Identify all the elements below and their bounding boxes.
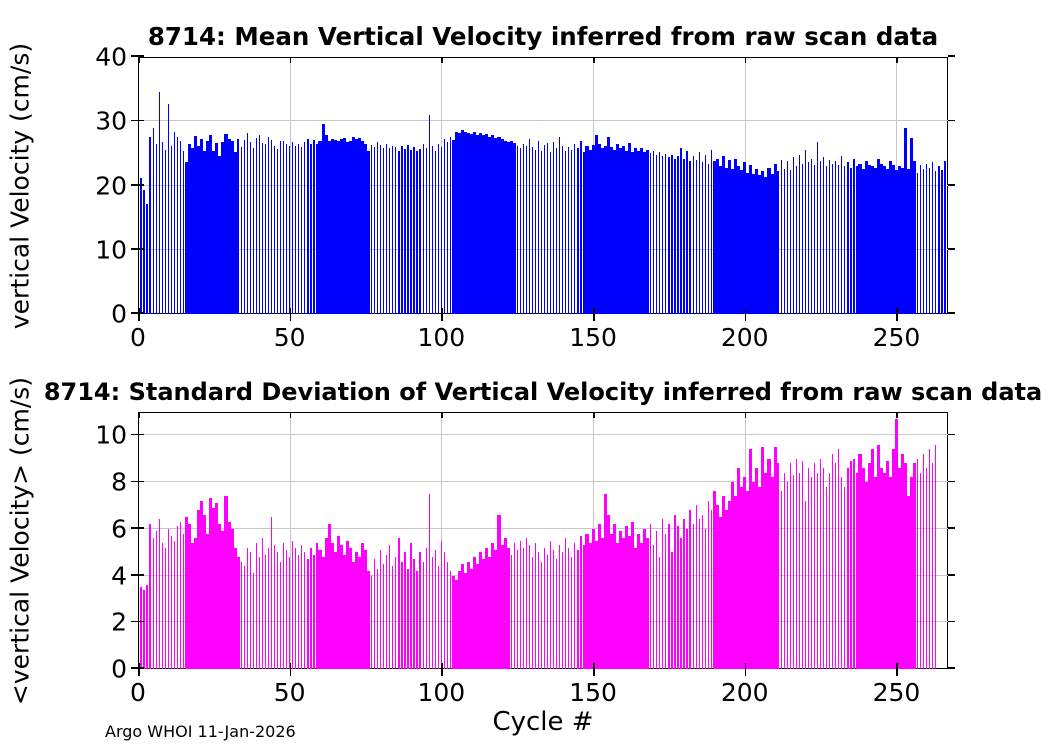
bar	[674, 515, 675, 669]
bar	[247, 133, 248, 314]
x-tick	[745, 669, 747, 676]
bar	[847, 468, 848, 669]
bar	[162, 142, 163, 314]
bar	[547, 555, 548, 669]
bar	[793, 475, 794, 669]
y-tick-right	[948, 184, 955, 186]
bar	[438, 144, 439, 314]
bar	[929, 168, 930, 314]
bar	[401, 146, 402, 314]
bar	[507, 548, 510, 669]
bar	[656, 531, 657, 669]
bar	[799, 155, 800, 314]
bar	[419, 149, 420, 314]
x-tick-top	[896, 57, 898, 63]
bar	[374, 559, 375, 669]
chart-title-mean: 8714: Mean Vertical Velocity inferred fr…	[148, 22, 938, 51]
x-tick-top	[441, 412, 443, 418]
bar	[159, 519, 160, 669]
bar	[416, 571, 417, 669]
bar	[702, 162, 703, 314]
x-tick-label: 250	[873, 678, 921, 707]
bar	[577, 148, 578, 314]
x-tick-top	[896, 412, 898, 418]
bar	[171, 146, 172, 314]
bar	[177, 137, 178, 314]
bar	[826, 166, 827, 314]
bar	[708, 164, 709, 314]
bar	[250, 552, 251, 669]
bar	[156, 531, 157, 669]
bar	[386, 144, 387, 314]
bar	[814, 165, 815, 314]
bar	[295, 146, 296, 314]
bar	[838, 165, 839, 314]
bar	[538, 552, 539, 669]
bar	[820, 459, 821, 669]
bar	[853, 459, 854, 669]
bar	[781, 160, 782, 314]
bar	[168, 529, 169, 669]
bar	[316, 543, 317, 669]
bar	[913, 463, 916, 669]
x-tick-inner	[441, 308, 443, 314]
y-tick-right	[948, 248, 955, 250]
bar	[371, 145, 372, 314]
bar	[650, 153, 651, 314]
bar	[544, 145, 545, 314]
y-tick	[131, 55, 138, 57]
bar	[280, 562, 281, 669]
bar	[183, 151, 184, 314]
bar	[374, 147, 375, 314]
bar	[829, 160, 830, 314]
bar	[787, 161, 788, 314]
bar	[917, 173, 918, 314]
bar	[313, 140, 314, 314]
bar	[913, 161, 916, 314]
bar	[565, 151, 566, 314]
bar	[435, 151, 436, 314]
bar	[423, 562, 424, 669]
bar	[146, 585, 147, 669]
bar	[926, 164, 927, 314]
bar	[429, 115, 430, 314]
bar	[180, 141, 181, 314]
bar	[277, 552, 278, 669]
x-tick-inner	[745, 308, 747, 314]
bar	[380, 145, 381, 314]
bar	[538, 141, 539, 314]
bar	[680, 148, 681, 314]
bar	[271, 140, 272, 314]
bar	[404, 149, 405, 314]
y-tick-label: 0	[111, 300, 127, 329]
bar	[683, 159, 684, 314]
x-tick-label: 50	[274, 678, 306, 707]
bar	[923, 169, 924, 314]
bar	[677, 156, 678, 314]
bar	[671, 155, 672, 314]
bar	[711, 150, 712, 314]
bar	[386, 555, 387, 669]
y-tick-right	[948, 667, 955, 669]
bar	[286, 144, 287, 314]
y-tick-label: 10	[95, 421, 127, 450]
bar	[838, 449, 839, 669]
bar	[662, 519, 663, 669]
y-tick	[131, 184, 138, 186]
bar	[149, 524, 150, 669]
x-tick	[441, 314, 443, 321]
bar	[646, 150, 649, 314]
bar	[410, 543, 411, 669]
bar	[265, 555, 266, 669]
y-tick-right	[948, 55, 955, 57]
x-tick-inner	[290, 308, 292, 314]
bar	[817, 473, 818, 669]
bar	[696, 505, 697, 669]
x-axis-title: Cycle #	[492, 707, 593, 737]
bar	[271, 517, 272, 669]
bar	[259, 557, 260, 669]
bar	[708, 501, 709, 669]
bar-series-mean	[138, 57, 948, 314]
bar	[413, 559, 414, 669]
bar	[419, 552, 420, 669]
bar	[550, 152, 551, 314]
bar	[805, 150, 806, 314]
bar	[517, 146, 518, 314]
bar	[268, 137, 269, 314]
y-tick-label: 8	[111, 468, 127, 497]
x-tick	[138, 669, 140, 676]
bar	[174, 541, 175, 670]
bar	[168, 104, 169, 314]
bar	[392, 146, 393, 314]
bar	[523, 144, 524, 314]
x-tick-inner	[441, 663, 443, 669]
bar	[841, 477, 842, 669]
bar	[395, 147, 396, 314]
bar	[159, 92, 160, 314]
bar	[265, 144, 266, 314]
bar	[280, 141, 281, 314]
bar	[668, 524, 669, 669]
bar	[656, 155, 657, 314]
bar	[774, 447, 777, 669]
x-tick-inner	[896, 663, 898, 669]
bar	[699, 152, 700, 314]
bar	[835, 161, 836, 314]
bar	[562, 552, 563, 669]
bar	[568, 147, 569, 314]
y-tick-right	[948, 312, 955, 314]
bar	[559, 545, 560, 669]
bar	[693, 524, 694, 669]
y-tick-inner	[138, 120, 144, 122]
bar	[693, 156, 694, 314]
bar	[234, 152, 237, 314]
x-tick	[290, 314, 292, 321]
bar	[932, 463, 933, 669]
x-tick	[441, 669, 443, 676]
y-tick-label: 2	[111, 608, 127, 637]
bar	[823, 157, 824, 314]
bar	[444, 552, 445, 669]
bar	[796, 166, 797, 314]
bar	[237, 139, 238, 314]
bar	[920, 473, 921, 669]
bar	[253, 148, 254, 314]
bar	[808, 468, 809, 669]
bar	[380, 550, 381, 669]
bar	[256, 543, 257, 669]
bar	[532, 147, 533, 314]
bar	[553, 142, 554, 314]
bar	[389, 545, 390, 669]
y-tick-inner	[138, 248, 144, 250]
bar	[283, 543, 284, 669]
bar	[526, 538, 527, 669]
bar	[699, 519, 700, 669]
bar	[143, 590, 144, 669]
bar	[781, 491, 782, 669]
chart-title-std: 8714: Standard Deviation of Vertical Vel…	[44, 378, 1042, 406]
bar	[529, 545, 530, 669]
bar	[395, 557, 396, 669]
x-tick-label: 50	[274, 323, 306, 352]
bar	[544, 548, 545, 669]
bar	[850, 168, 851, 314]
bar	[711, 510, 712, 669]
x-tick	[745, 314, 747, 321]
x-tick-inner	[593, 308, 595, 314]
x-tick-top	[290, 412, 292, 418]
bar	[920, 165, 921, 314]
bar	[550, 541, 551, 670]
bar	[923, 454, 924, 669]
bar	[286, 550, 287, 669]
bar	[689, 510, 690, 669]
bar	[292, 541, 293, 670]
bar	[574, 543, 575, 669]
x-tick	[593, 314, 595, 321]
bar	[377, 569, 378, 669]
bar	[777, 463, 778, 669]
bar	[671, 552, 672, 669]
bar	[295, 548, 296, 669]
bar	[435, 550, 436, 669]
bar	[310, 548, 311, 669]
bar	[926, 468, 927, 669]
bar	[404, 552, 405, 669]
bar	[426, 548, 427, 669]
bar	[398, 538, 399, 669]
bar	[541, 151, 542, 314]
bar	[268, 548, 269, 669]
x-tick-inner	[290, 663, 292, 669]
bar	[514, 543, 515, 669]
bar	[941, 170, 942, 314]
bar	[932, 162, 933, 314]
bar	[677, 526, 678, 669]
y-tick-right	[948, 574, 955, 576]
bar	[162, 543, 163, 669]
bar	[149, 137, 150, 314]
y-tick-right	[948, 120, 955, 122]
bar	[371, 576, 372, 669]
bar	[520, 148, 521, 314]
x-tick	[896, 314, 898, 321]
bar	[140, 587, 141, 669]
bar	[841, 156, 842, 314]
y-tick-right	[948, 481, 955, 483]
footer-credit: Argo WHOI 11-Jan-2026	[105, 722, 296, 741]
bar	[298, 144, 299, 314]
bar	[416, 151, 417, 314]
x-tick-inner	[745, 663, 747, 669]
bar	[556, 148, 557, 314]
bar	[556, 559, 557, 669]
y-tick	[131, 621, 138, 623]
bar	[259, 135, 260, 314]
bar	[832, 164, 833, 314]
x-tick-label: 0	[130, 678, 146, 707]
x-tick-top	[745, 57, 747, 63]
bar	[659, 152, 660, 314]
bar	[802, 461, 803, 669]
bar	[165, 150, 166, 314]
bar	[784, 169, 785, 314]
x-tick	[896, 669, 898, 676]
y-tick-inner	[138, 527, 144, 529]
y-tick	[131, 120, 138, 122]
bar	[817, 142, 818, 314]
bar	[547, 143, 548, 314]
bar	[705, 155, 706, 314]
bar	[826, 487, 827, 669]
bar	[140, 178, 141, 314]
bar	[535, 150, 536, 314]
y-tick-right	[948, 621, 955, 623]
y-tick-right	[948, 527, 955, 529]
x-tick-inner	[593, 663, 595, 669]
y-tick-right	[948, 434, 955, 436]
bar	[450, 571, 451, 669]
bar	[247, 548, 248, 669]
bar	[541, 562, 542, 669]
bar	[659, 557, 660, 669]
y-tick	[131, 667, 138, 669]
bar	[289, 557, 290, 669]
bar	[529, 139, 530, 314]
bar	[262, 538, 263, 669]
y-tick-label: 4	[111, 561, 127, 590]
bar	[262, 143, 263, 314]
x-tick-label: 100	[418, 678, 466, 707]
x-tick	[290, 669, 292, 676]
bar	[450, 137, 451, 314]
bar	[796, 459, 797, 669]
bar	[401, 562, 402, 669]
bar	[444, 139, 445, 314]
bar	[313, 555, 314, 669]
bar	[180, 522, 181, 669]
bar	[277, 149, 278, 314]
x-tick-label: 150	[569, 678, 617, 707]
bar	[304, 552, 305, 669]
x-tick-inner	[138, 308, 140, 314]
bar	[680, 538, 681, 669]
bar	[696, 160, 697, 314]
bar	[389, 148, 390, 314]
bar	[310, 144, 311, 314]
mean-velocity-chart: 8714: Mean Vertical Velocity inferred fr…	[138, 57, 948, 314]
bar	[513, 143, 516, 314]
bar	[413, 147, 414, 314]
bar	[432, 146, 433, 314]
x-tick-top	[138, 57, 140, 63]
bar	[438, 566, 439, 669]
x-tick-label: 250	[873, 323, 921, 352]
y-tick-inner	[138, 184, 144, 186]
bar	[580, 536, 581, 669]
y-tick-label: 10	[95, 235, 127, 264]
bar	[668, 157, 669, 314]
bar	[553, 550, 554, 669]
bar	[244, 566, 245, 669]
bar	[820, 161, 821, 314]
bar	[289, 146, 290, 314]
bar	[241, 562, 242, 669]
bar	[174, 132, 175, 314]
bar	[410, 150, 411, 314]
bar	[316, 144, 317, 314]
bar	[856, 473, 857, 669]
bar	[686, 151, 687, 314]
bar	[153, 538, 154, 669]
bar	[156, 144, 157, 314]
bar	[304, 142, 305, 314]
bar	[383, 148, 384, 314]
y-axis-title-std: <vertical Velocity> (cm/s)	[6, 376, 35, 704]
bar-series-std	[138, 412, 948, 669]
x-tick-inner	[138, 663, 140, 669]
bar	[146, 204, 147, 315]
bar	[307, 559, 308, 669]
bar	[292, 142, 293, 314]
bar	[441, 147, 442, 314]
x-tick	[593, 669, 595, 676]
bar	[377, 142, 378, 314]
bar	[535, 543, 536, 669]
bar	[250, 142, 251, 314]
x-tick-top	[593, 412, 595, 418]
x-tick-top	[441, 57, 443, 63]
x-tick-label: 200	[721, 323, 769, 352]
bar	[847, 162, 848, 314]
bar	[244, 140, 245, 314]
bar	[689, 161, 690, 314]
bar	[256, 138, 257, 314]
bar	[583, 152, 584, 314]
bar	[429, 494, 430, 669]
bar	[787, 482, 788, 669]
bar	[653, 151, 654, 314]
x-tick-inner	[896, 308, 898, 314]
bar	[580, 141, 581, 314]
